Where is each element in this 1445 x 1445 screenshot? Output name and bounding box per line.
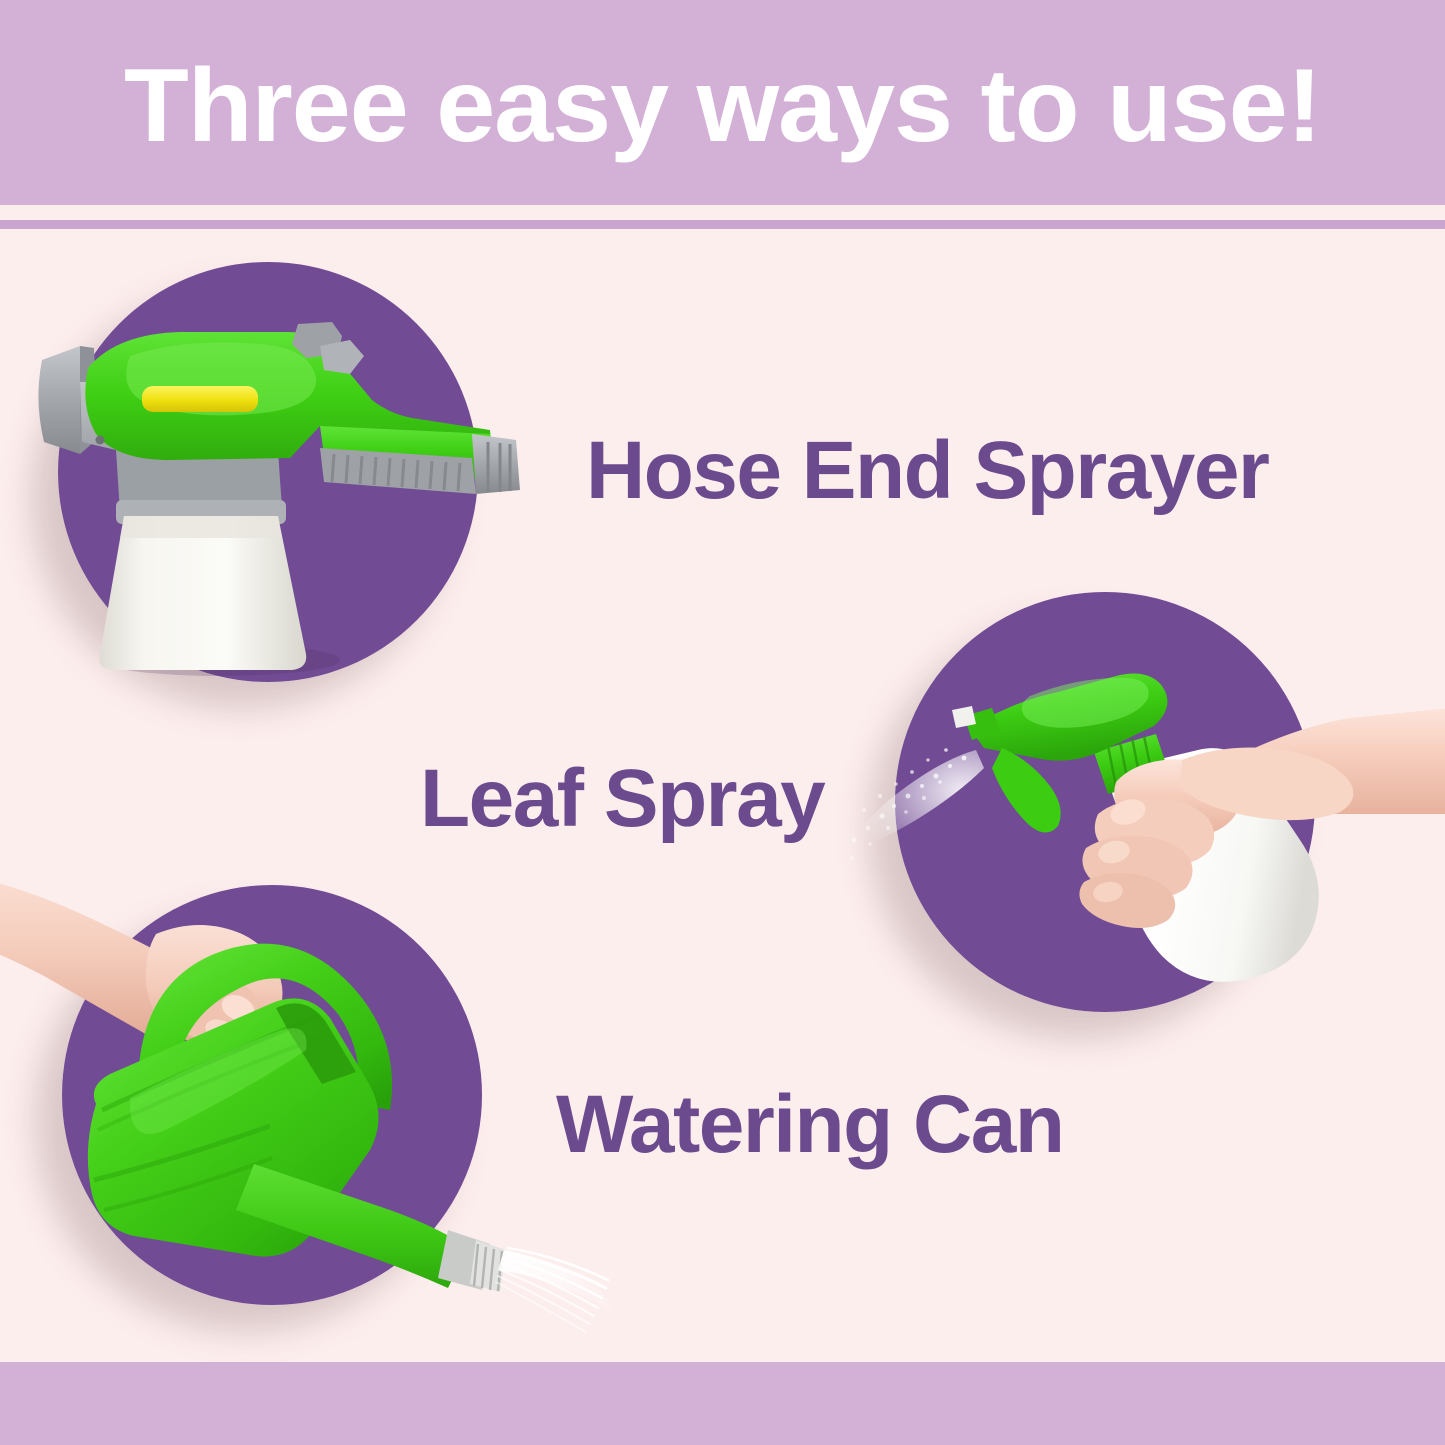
footer-band bbox=[0, 1362, 1445, 1445]
page-title: Three easy ways to use! bbox=[0, 44, 1445, 169]
leaf-spray-bottle-icon bbox=[880, 600, 1445, 1020]
watering-can-icon bbox=[0, 858, 610, 1278]
label-watering-can: Watering Can bbox=[556, 1078, 1063, 1172]
header-divider-rule bbox=[0, 220, 1445, 229]
hose-end-sprayer-icon bbox=[20, 330, 540, 690]
label-hose-end-sprayer: Hose End Sprayer bbox=[586, 424, 1268, 518]
infographic-canvas: Three easy ways to use! bbox=[0, 0, 1445, 1445]
label-leaf-spray: Leaf Spray bbox=[420, 752, 824, 846]
